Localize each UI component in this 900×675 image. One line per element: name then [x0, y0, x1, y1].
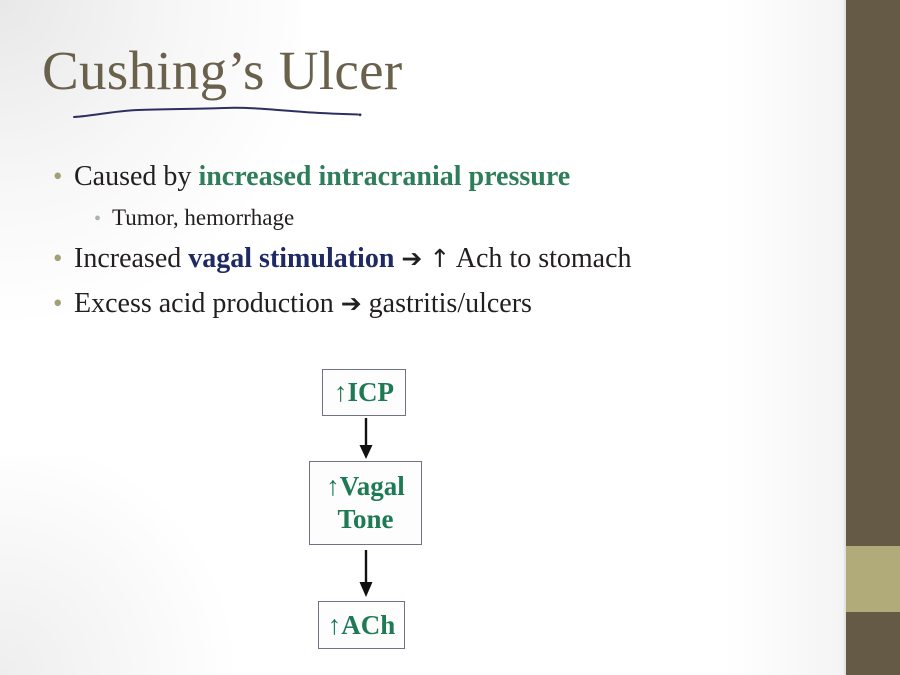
flow-node-vagal-tone[interactable]: ↑VagalTone	[309, 461, 422, 545]
arrow-right-icon: ➔	[401, 244, 422, 273]
bullet-text-segment: Ach to stomach	[450, 243, 631, 274]
bullet-item-tumor-hemorrhage: • Tumor, hemorrhage	[90, 201, 818, 235]
background-gradient-bottom	[0, 455, 260, 675]
bullet-text-highlight-green: increased intracranial pressure	[198, 161, 570, 192]
flow-node-vagal-label: ↑VagalTone	[326, 470, 405, 536]
slide-canvas: Cushing’s Ulcer • Caused by increased in…	[0, 0, 900, 675]
sidebar-band-bottom	[846, 612, 900, 675]
flow-node-icp-label: ↑ICP	[334, 377, 394, 408]
sidebar-band-middle	[846, 546, 900, 612]
sidebar-band-top	[846, 0, 900, 546]
bullet-item-vagal: • Increased vagal stimulation ➔ ↑ Ach to…	[48, 238, 818, 279]
flow-node-ach[interactable]: ↑ACh	[318, 601, 405, 649]
sub-bullet-marker-icon: •	[90, 203, 112, 235]
bullet-text-highlight-navy: vagal stimulation	[188, 243, 394, 274]
bullet-text-segment: Excess acid production	[74, 288, 341, 319]
bullet-item-cause: • Caused by increased intracranial press…	[48, 156, 818, 197]
decorative-sidebar	[846, 0, 900, 675]
bullet-text-segment: gastritis/ulcers	[362, 288, 532, 319]
bullet-list: • Caused by increased intracranial press…	[48, 156, 818, 328]
flow-node-ach-label: ↑ACh	[328, 610, 396, 641]
slide-title: Cushing’s Ulcer	[42, 40, 402, 102]
flow-connector-vagal-to-ach	[355, 550, 377, 598]
bullet-text: Increased vagal stimulation ➔ ↑ Ach to s…	[74, 238, 632, 279]
arrow-up-icon: ↑	[429, 244, 450, 273]
bullet-text-segment: Caused by	[74, 161, 198, 192]
sub-bullet-text: Tumor, hemorrhage	[112, 201, 294, 234]
background-gradient-right	[725, 0, 845, 675]
bullet-text-segment: Increased	[74, 243, 188, 274]
arrow-right-icon: ➔	[341, 289, 362, 318]
title-underline-decoration	[72, 104, 362, 122]
flow-node-vagal-label-line2: Tone	[337, 504, 393, 534]
flow-node-icp[interactable]: ↑ICP	[322, 369, 406, 416]
flow-node-vagal-label-line1: ↑Vagal	[326, 471, 405, 501]
bullet-text: Caused by increased intracranial pressur…	[74, 156, 570, 197]
bullet-marker-icon: •	[48, 283, 74, 323]
bullet-text: Excess acid production ➔ gastritis/ulcer…	[74, 283, 532, 324]
bullet-marker-icon: •	[48, 238, 74, 278]
flow-connector-icp-to-vagal	[355, 418, 377, 460]
bullet-marker-icon: •	[48, 156, 74, 196]
bullet-item-acid: • Excess acid production ➔ gastritis/ulc…	[48, 283, 818, 324]
